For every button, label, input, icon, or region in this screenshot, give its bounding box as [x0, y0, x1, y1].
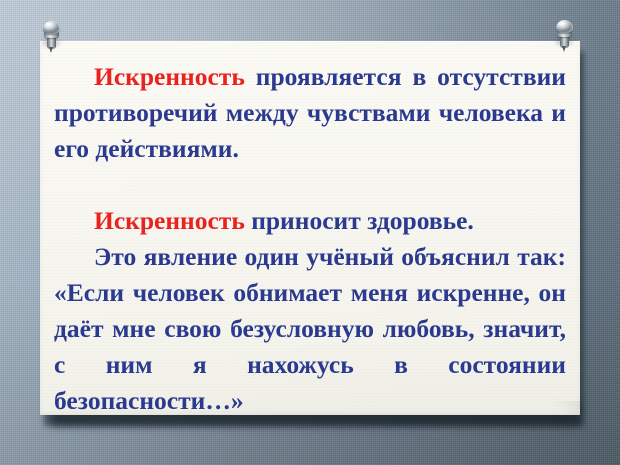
paragraph-sincerity-definition: Искренность проявляется в отсутствии про… — [54, 59, 566, 167]
pushpin-tip-left — [49, 47, 53, 53]
pushpin-head-right — [556, 20, 573, 33]
keyword-sincerity-2: Искренность — [94, 206, 245, 235]
pushpin-icon-left — [38, 21, 66, 55]
pushpin-tip-right — [562, 46, 566, 52]
corkboard-background: Искренность проявляется в отсутствии про… — [0, 0, 620, 465]
paragraph-sincerity-health: Искренность приносит здоровье. — [54, 203, 566, 239]
pushpin-head-left — [43, 21, 60, 34]
slide-text-body: Искренность проявляется в отсутствии про… — [54, 59, 566, 419]
pushpin-icon-right — [551, 20, 579, 54]
paper-sheet: Искренность проявляется в отсутствии про… — [40, 41, 580, 415]
paragraph-gap — [54, 167, 566, 203]
paragraph-2-rest: приносит здоровье. — [245, 206, 474, 235]
paragraph-3-text: Это явление один учёный объяснил так: «Е… — [54, 242, 566, 415]
paragraph-scientist-quote: Это явление один учёный объяснил так: «Е… — [54, 239, 566, 419]
keyword-sincerity-1: Искренность — [94, 62, 245, 91]
